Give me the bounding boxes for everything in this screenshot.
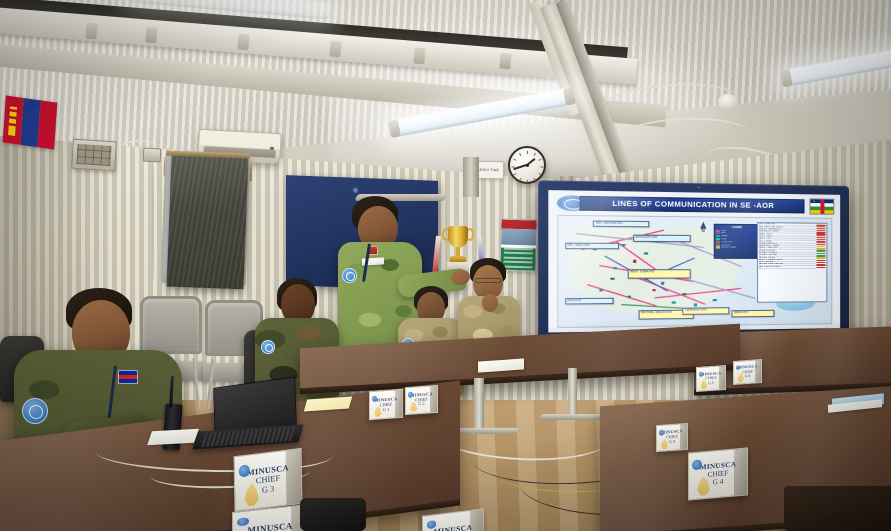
un-blue-patch-icon xyxy=(261,340,275,354)
placard-section: G 6 xyxy=(745,374,751,379)
officer4-hand xyxy=(482,294,498,312)
un-blue-patch-icon xyxy=(22,398,48,424)
slide-title: LINES OF COMMUNICATION IN SE -AOR xyxy=(612,199,774,211)
name-placard[interactable]: MINUSCA CHIEF G 2 xyxy=(405,385,438,415)
table-leg xyxy=(568,368,577,418)
map-node xyxy=(627,295,631,298)
placard-section: G 5 xyxy=(708,381,714,386)
name-placard-g4[interactable]: MINUSCA CHIEF G 4 xyxy=(688,447,748,500)
display-screen[interactable]: ▪▪ LINES OF COMMUNICATION IN SE -AOR xyxy=(538,180,849,349)
route-status-bar xyxy=(816,236,825,237)
ceiling-clip xyxy=(329,41,341,58)
placard-org: MINUSCA xyxy=(434,523,472,531)
map-checkpoint xyxy=(652,289,656,292)
placard-org: MINUSCA xyxy=(247,520,292,531)
mongolia-flag-icon xyxy=(3,95,58,149)
map-callout: OBO - ZEMIO AXIS xyxy=(565,242,619,249)
name-placard[interactable]: MINUSCA CHIEF G 5 xyxy=(696,365,726,392)
map-callout: RAFAI AXIS xyxy=(565,298,614,305)
route-status-bar xyxy=(816,257,825,258)
map-node xyxy=(661,282,665,285)
map-callout: BRIA - BAKOUMA AXIS xyxy=(593,220,649,227)
name-placard[interactable]: MINUSCA CHIEF G 1 xyxy=(369,389,403,420)
board-pin xyxy=(353,188,358,193)
legend-title: LEGEND xyxy=(716,226,757,229)
route-status-bar xyxy=(816,260,825,261)
placard-section: G 9 xyxy=(669,440,675,445)
map-node xyxy=(599,289,603,292)
map-callout: ZEMIO AXIS xyxy=(731,310,773,317)
name-placard[interactable]: MINUSCA CHIEF G 6 xyxy=(733,359,762,385)
map-node xyxy=(694,303,698,306)
map-callout: DERBISSAKA AXIS xyxy=(683,307,729,314)
central-african-republic-flag-icon xyxy=(810,198,835,214)
route-status-bar xyxy=(816,246,825,247)
briefing-room-photo: BANGUI TIME ▪▪ LINES OF COMMUN xyxy=(0,0,891,531)
map-checkpoint xyxy=(633,260,637,263)
soyombo-symbol xyxy=(8,103,17,137)
display-brand-label: ▪▪ xyxy=(698,185,701,189)
route-status-bar xyxy=(816,255,825,256)
route-status-bar xyxy=(816,248,825,249)
route-status-bar xyxy=(816,232,825,233)
wall-wire xyxy=(152,162,154,282)
legend-row: UN Base xyxy=(716,244,757,246)
foreground-table-edge xyxy=(784,486,891,531)
route-status-bar xyxy=(816,267,825,268)
wall-clock-icon xyxy=(508,146,546,184)
ceiling-clip xyxy=(237,34,249,51)
window-curtain xyxy=(167,156,249,290)
eyeglasses-icon xyxy=(475,278,501,283)
route-status-bar xyxy=(816,264,825,265)
ceiling-clip xyxy=(413,48,425,65)
placard-section: G 1 xyxy=(383,407,389,413)
cambodia-flag-patch-icon xyxy=(118,370,138,384)
display-panel: LINES OF COMMUNICATION IN SE -AOR xyxy=(548,190,840,332)
slide-title-bar: LINES OF COMMUNICATION IN SE -AOR xyxy=(579,196,804,214)
map-base xyxy=(683,293,687,296)
name-placard[interactable]: MINUSCA CHIEF G 9 xyxy=(656,423,688,452)
map-canvas: N BRIA - BAKOUMA AXIS BANGASSOU AXIS OBO… xyxy=(558,214,832,328)
map-node xyxy=(613,267,617,270)
map-legend: LEGEND MSR ASR Bridge Ferry Check Point … xyxy=(714,224,759,260)
ceiling-clip xyxy=(85,23,97,40)
route-status-bar xyxy=(816,250,825,251)
map-node xyxy=(622,244,626,247)
route-status-table: MSR - BRIA - IPPYBRIA - BAKOUMA - NZACKO… xyxy=(757,222,827,303)
foreground-bag xyxy=(300,498,366,531)
ceiling-clip xyxy=(499,53,511,70)
wall-wire xyxy=(106,168,108,298)
route-status-bar xyxy=(816,239,825,240)
map-callout: MBOKI - DJEMA AXIS xyxy=(627,269,691,279)
route-status-bar xyxy=(816,243,825,244)
route-status-bar xyxy=(816,262,825,263)
ceiling-clip xyxy=(145,27,157,44)
route-status-row: SAM OUANDJA - BIRAO xyxy=(759,266,825,268)
route-status-bar xyxy=(816,227,825,229)
map-callout: BANGASSOU AXIS xyxy=(633,235,691,242)
un-blue-patch-icon xyxy=(342,268,357,283)
presentation-slide: LINES OF COMMUNICATION IN SE -AOR xyxy=(548,190,840,332)
map-node xyxy=(713,299,717,301)
route-status-bar xyxy=(816,241,825,242)
display-stand-neck xyxy=(463,157,479,197)
route-status-bar xyxy=(816,253,825,254)
route-status-bar xyxy=(816,230,825,232)
legend-row: Airfield / Helipad xyxy=(716,247,757,249)
placard-section: G 2 xyxy=(418,402,424,407)
route-name: SAM OUANDJA - BIRAO xyxy=(759,266,815,269)
electrical-junction-box xyxy=(71,139,117,172)
route-status-bar xyxy=(816,234,825,235)
placard-section: G 4 xyxy=(713,478,724,487)
route-status-bar xyxy=(816,225,825,227)
placard-section: G 3 xyxy=(262,484,275,495)
north-arrow-icon: N xyxy=(694,221,713,236)
name-placard-g3[interactable]: MINUSCA CHIEF G 3 xyxy=(234,448,303,512)
north-label: N xyxy=(702,229,705,234)
